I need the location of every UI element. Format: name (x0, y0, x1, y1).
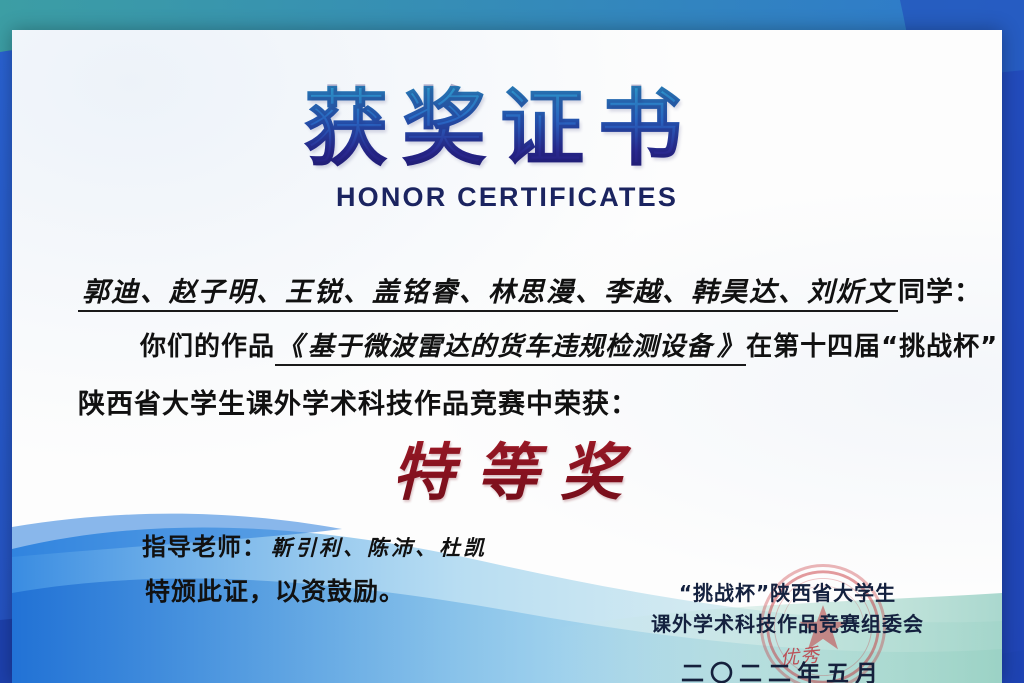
work-prefix: 你们的作品 (140, 332, 275, 362)
recipient-names: 郭迪、赵子明、王锐、盖铭睿、林思漫、李越、韩昊达、刘炘文 (78, 277, 898, 312)
recipients-line: 郭迪、赵子明、王锐、盖铭睿、林思漫、李越、韩昊达、刘炘文同学： (78, 270, 982, 309)
work-line: 你们的作品《基于微波雷达的货车违规检测设备》在第十四届“挑战杯” (140, 326, 998, 363)
certificate-paper: 获奖证书 HONOR CERTIFICATES 郭迪、赵子明、王锐、盖铭睿、林思… (12, 30, 1002, 683)
closing-line: 特颁此证，以资鼓励。 (145, 572, 405, 608)
issuer-block: “挑战杯”陕西省大学生 课外学术科技作品竞赛组委会 (651, 578, 924, 640)
work-close-bracket: 》 (715, 332, 746, 366)
recipients-suffix: 同学： (898, 277, 982, 308)
issuer-line-1: “挑战杯”陕西省大学生 (651, 578, 924, 609)
award-name: 特等奖 (12, 422, 1002, 512)
issue-date: 二〇二二年五月 (681, 654, 884, 683)
work-title: 基于微波雷达的货车违规检测设备 (306, 332, 715, 366)
advisor-line: 指导老师：靳引利、陈沛、杜凯 (142, 527, 487, 562)
competition-line: 陕西省大学生课外学术科技作品竞赛中荣获： (78, 382, 638, 421)
advisor-names: 靳引利、陈沛、杜凯 (271, 535, 487, 560)
work-suffix: 在第十四届“挑战杯” (746, 332, 998, 362)
issuer-line-2: 课外学术科技作品竞赛组委会 (651, 609, 924, 640)
certificate-content: 获奖证书 HONOR CERTIFICATES 郭迪、赵子明、王锐、盖铭睿、林思… (12, 30, 1002, 683)
advisor-label: 指导老师： (142, 533, 267, 561)
title-block: 获奖证书 HONOR CERTIFICATES (12, 86, 1002, 213)
page-title: 获奖证书 (12, 86, 1002, 170)
page-subtitle: HONOR CERTIFICATES (12, 182, 1002, 213)
certificate-screenshot: 获奖证书 HONOR CERTIFICATES 郭迪、赵子明、王锐、盖铭睿、林思… (0, 0, 1024, 683)
work-open-bracket: 《 (275, 332, 306, 366)
